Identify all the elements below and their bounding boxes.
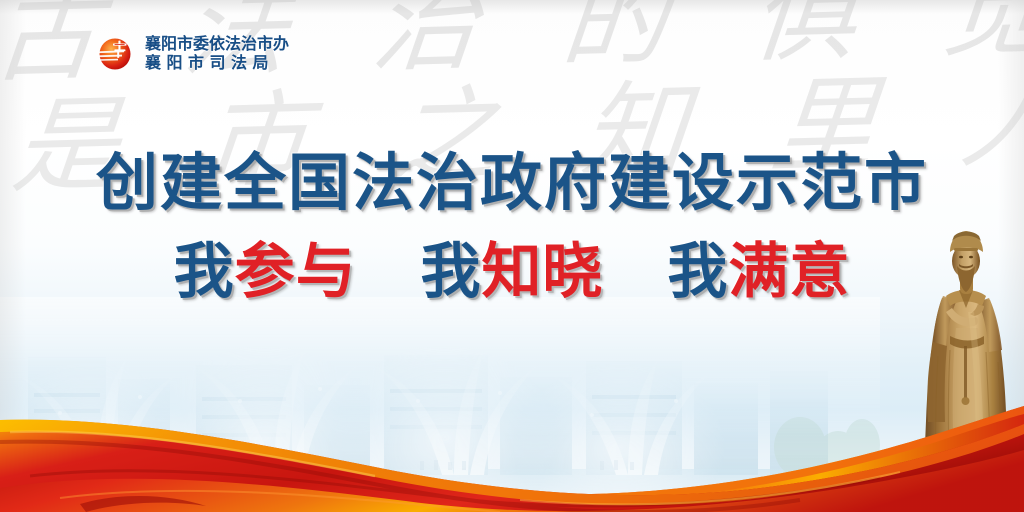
logo-text-block: 襄阳市委依法治市办 襄阳市司法局 xyxy=(145,35,289,73)
logo-line-1: 襄阳市委依法治市办 xyxy=(145,35,289,54)
slogan-2-red: 知晓 xyxy=(482,237,604,307)
slogan-row: 我参与 我知晓 我满意 xyxy=(0,236,1024,308)
slogan-3-red: 满意 xyxy=(728,237,850,307)
slogan-item-1: 我参与 xyxy=(174,236,357,308)
red-silk-ribbon xyxy=(0,380,1024,512)
slogan-2-blue: 我 xyxy=(421,237,482,307)
slogan-3-blue: 我 xyxy=(667,237,728,307)
logo-line-2: 襄阳市司法局 xyxy=(145,54,289,73)
slogan-item-3: 我满意 xyxy=(667,236,850,308)
organization-logo: 襄阳市委依法治市办 襄阳市司法局 xyxy=(94,34,289,74)
propaganda-banner: 古 法 治 的 俱 觉 潜 鼓 知 是 市 之 知 里 人 而 设 举 xyxy=(0,0,1024,512)
judicial-emblem-icon xyxy=(94,34,136,74)
slogan-1-blue: 我 xyxy=(174,237,235,307)
slogan-1-red: 参与 xyxy=(235,237,357,307)
main-title: 创建全国法治政府建设示范市 xyxy=(0,146,1024,220)
headline-block: 创建全国法治政府建设示范市 我参与 我知晓 我满意 xyxy=(0,146,1024,308)
ribbon-illustration xyxy=(0,380,1024,512)
slogan-item-2: 我知晓 xyxy=(421,236,604,308)
